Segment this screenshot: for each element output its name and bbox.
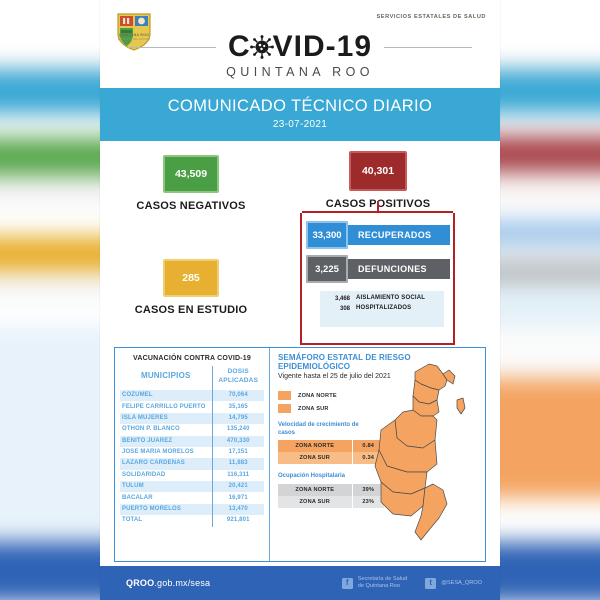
- rule-left: [128, 47, 216, 48]
- negative-cases-value: 43,509: [163, 155, 219, 193]
- covid-letter-c: C: [228, 30, 251, 63]
- poster-footer: QROO.gob.mx/sesa f Secretaría de Salud d…: [100, 566, 500, 600]
- rule-right: [384, 47, 472, 48]
- hospitalized-value: 308: [324, 305, 350, 312]
- cell-dosis: 16,971: [212, 492, 264, 503]
- row-isolation: 3,468 AISLAMIENTO SOCIAL: [324, 295, 440, 303]
- facebook-line1: Secretaría de Salud: [358, 576, 407, 582]
- poster-card: QUINTANA ROO GOBIERNO DEL ESTADO SERVICI…: [100, 0, 500, 600]
- twitter-handle: @SESA_QROO: [441, 580, 482, 587]
- covid-wordmark: CVID-19: [228, 30, 372, 64]
- cell-dosis: 14,795: [212, 413, 264, 424]
- footer-website[interactable]: QROO.gob.mx/sesa: [126, 578, 210, 588]
- cell-municipio: COZUMEL: [120, 390, 212, 401]
- cell-dosis: 470,330: [212, 436, 264, 447]
- bottom-panel: VACUNACIÓN CONTRA COVID-19 MUNICIPIOS DO…: [114, 347, 486, 562]
- cell-municipio: BENITO JUAREZ: [120, 436, 212, 447]
- cell-dosis: 20,421: [212, 481, 264, 492]
- table-row: SOLIDARIDAD116,311: [120, 470, 264, 481]
- facebook-label: Secretaría de Salud de Quintana Roo: [358, 576, 407, 590]
- table-header-row: MUNICIPIOS DOSIS APLICADAS: [120, 366, 264, 390]
- quintana-roo-map: [363, 354, 483, 550]
- stat-cases-under-study: 285 CASOS EN ESTUDIO: [130, 259, 252, 316]
- dosis-line1: DOSIS: [228, 368, 249, 375]
- org-name: SERVICIOS ESTATALES DE SALUD: [377, 14, 486, 20]
- facebook-icon: f: [342, 578, 353, 589]
- isolation-value: 3,468: [324, 295, 350, 302]
- study-cases-label: CASOS EN ESTUDIO: [130, 304, 252, 316]
- velocity-section-label: Velocidad de crecimiento de casos: [278, 422, 368, 437]
- legend-swatch-norte: [278, 391, 291, 400]
- cell-municipio: JOSE MARIA MORELOS: [120, 447, 212, 458]
- table-row: PUERTO MORELOS13,470: [120, 504, 264, 515]
- breakdown-recovered: RECUPERADOS 33,300: [306, 221, 450, 249]
- cell-municipio: OTHON P. BLANCO: [120, 424, 212, 435]
- poster-screenshot: QUINTANA ROO GOBIERNO DEL ESTADO SERVICI…: [0, 0, 600, 600]
- vaccination-table: MUNICIPIOS DOSIS APLICADAS COZUMEL70,064…: [120, 366, 264, 527]
- table-row: TULUM20,421: [120, 481, 264, 492]
- background-wing-right: [490, 0, 600, 600]
- social-links: f Secretaría de Salud de Quintana Roo t …: [342, 576, 500, 590]
- study-cases-value: 285: [163, 259, 219, 297]
- covid-letters-vid19: VID-19: [273, 30, 372, 63]
- cell-dosis: 70,064: [212, 390, 264, 401]
- legend-swatch-sur: [278, 404, 291, 413]
- background-wing-left: [0, 0, 110, 600]
- hospitalized-label: HOSPITALIZADOS: [356, 305, 411, 313]
- twitter-link[interactable]: t @SESA_QROO: [425, 578, 482, 589]
- vaccination-title: VACUNACIÓN CONTRA COVID-19: [120, 352, 264, 366]
- table-row: ISLA MUJERES14,795: [120, 413, 264, 424]
- table-row: TOTAL921,801: [120, 515, 264, 526]
- column-header-municipios: MUNICIPIOS: [120, 366, 212, 390]
- table-row: OTHON P. BLANCO135,240: [120, 424, 264, 435]
- table-row: JOSE MARIA MORELOS17,151: [120, 447, 264, 458]
- cell-municipio: TULUM: [120, 481, 212, 492]
- covid-logo-subtitle: QUINTANA ROO: [100, 65, 500, 79]
- legend-label-sur: ZONA SUR: [298, 406, 329, 412]
- table-row: FELIPE CARRILLO PUERTO35,165: [120, 401, 264, 412]
- facebook-link[interactable]: f Secretaría de Salud de Quintana Roo: [342, 576, 407, 590]
- cell-dosis: 17,151: [212, 447, 264, 458]
- daily-report-banner: COMUNICADO TÉCNICO DIARIO 23-07-2021: [100, 88, 500, 141]
- cell-municipio: BACALAR: [120, 492, 212, 503]
- occupancy-zone-norte: ZONA NORTE: [278, 484, 352, 496]
- footer-url-bold: QROO: [126, 578, 154, 588]
- coronavirus-icon: [250, 35, 274, 59]
- cell-dosis: 135,240: [212, 424, 264, 435]
- cell-municipio: SOLIDARIDAD: [120, 470, 212, 481]
- active-cases-panel: 3,468 AISLAMIENTO SOCIAL 308 HOSPITALIZA…: [320, 291, 444, 327]
- cell-municipio: TOTAL: [120, 515, 212, 526]
- velocity-zone-norte: ZONA NORTE: [278, 440, 352, 452]
- cell-municipio: ISLA MUJERES: [120, 413, 212, 424]
- statistics-section: 43,509 CASOS NEGATIVOS 285 CASOS EN ESTU…: [100, 141, 500, 355]
- vaccination-table-body: COZUMEL70,064FELIPE CARRILLO PUERTO35,16…: [120, 390, 264, 527]
- column-header-dosis: DOSIS APLICADAS: [212, 366, 264, 390]
- row-hospitalized: 308 HOSPITALIZADOS: [324, 305, 440, 313]
- cell-municipio: LAZARO CARDENAS: [120, 458, 212, 469]
- cell-dosis: 13,470: [212, 504, 264, 515]
- cell-dosis: 921,801: [212, 515, 264, 526]
- table-row: LAZARO CARDENAS11,883: [120, 458, 264, 469]
- vaccination-section: VACUNACIÓN CONTRA COVID-19 MUNICIPIOS DO…: [115, 348, 270, 561]
- cell-dosis: 116,311: [212, 470, 264, 481]
- occupancy-section-label: Ocupación Hospitalaria: [278, 473, 368, 481]
- deaths-value: 3,225: [306, 255, 348, 283]
- banner-date: 23-07-2021: [100, 119, 500, 130]
- twitter-icon: t: [425, 578, 436, 589]
- footer-url-rest: .gob.mx/sesa: [154, 578, 210, 588]
- recovered-label: RECUPERADOS: [346, 225, 450, 245]
- cell-dosis: 35,165: [212, 401, 264, 412]
- occupancy-zone-sur: ZONA SUR: [278, 496, 352, 508]
- velocity-zone-sur: ZONA SUR: [278, 452, 352, 464]
- banner-title: COMUNICADO TÉCNICO DIARIO: [100, 97, 500, 116]
- stat-negative-cases: 43,509 CASOS NEGATIVOS: [130, 155, 252, 212]
- cell-municipio: PUERTO MORELOS: [120, 504, 212, 515]
- positive-cases-value: 40,301: [349, 151, 407, 191]
- negative-cases-label: CASOS NEGATIVOS: [130, 200, 252, 212]
- dosis-line2: APLICADAS: [218, 377, 258, 384]
- table-row: BACALAR16,971: [120, 492, 264, 503]
- legend-label-norte: ZONA NORTE: [298, 393, 337, 399]
- covid-logo: CVID-19 QUINTANA ROO: [100, 30, 500, 79]
- semaforo-section: SEMÁFORO ESTATAL DE RIESGO EPIDEMIOLÓGIC…: [270, 348, 485, 561]
- cell-municipio: FELIPE CARRILLO PUERTO: [120, 401, 212, 412]
- deaths-label: DEFUNCIONES: [346, 259, 450, 279]
- table-row: BENITO JUAREZ470,330: [120, 436, 264, 447]
- breakdown-deaths: DEFUNCIONES 3,225: [306, 255, 450, 283]
- cell-dosis: 11,883: [212, 458, 264, 469]
- poster-header: QUINTANA ROO GOBIERNO DEL ESTADO SERVICI…: [100, 0, 500, 88]
- table-row: COZUMEL70,064: [120, 390, 264, 401]
- recovered-value: 33,300: [306, 221, 348, 249]
- isolation-label: AISLAMIENTO SOCIAL: [356, 295, 425, 303]
- positive-breakdown: RECUPERADOS 33,300 DEFUNCIONES 3,225 3,4…: [306, 221, 450, 289]
- facebook-line2: de Quintana Roo: [358, 583, 400, 589]
